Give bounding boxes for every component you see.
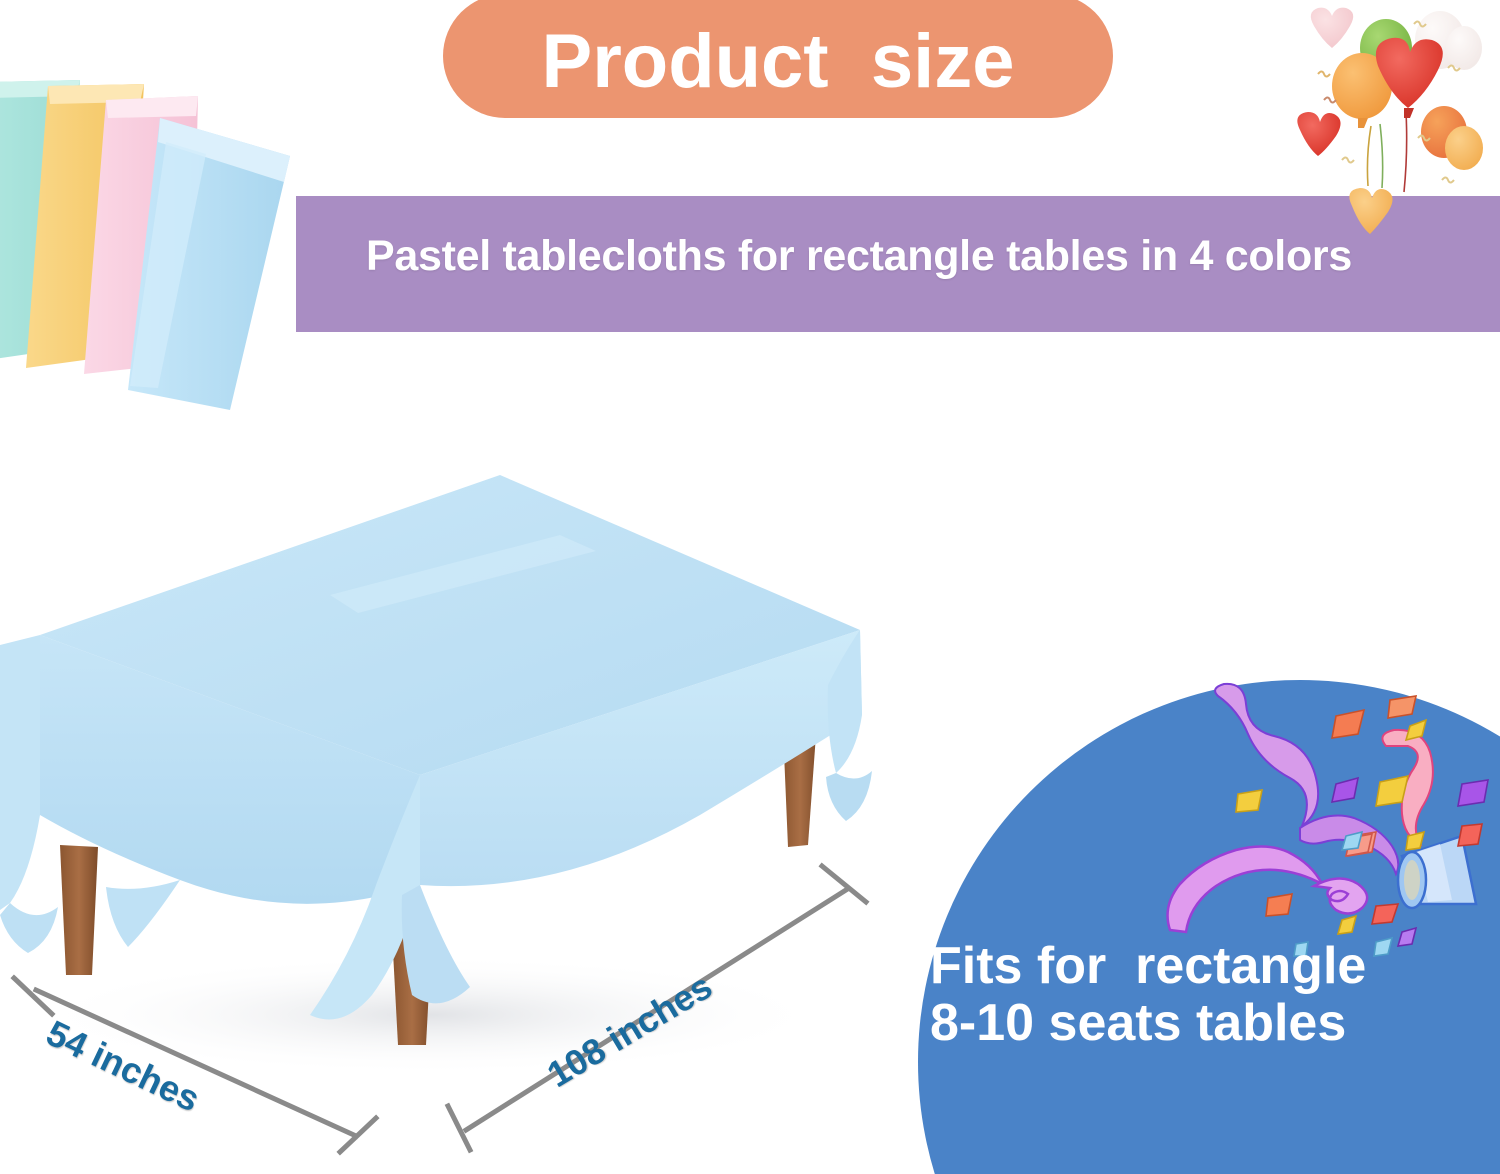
folded-tablecloths-stack — [0, 50, 360, 430]
streamer-magenta-lower — [1168, 846, 1322, 932]
balloon-strings — [1367, 112, 1406, 192]
fits-callout-line-1: Fits for rectangle — [930, 938, 1490, 995]
balloon-heart-red-small — [1297, 112, 1340, 156]
tablecloth-corner-right-point — [826, 771, 872, 821]
balloon-round-yellow-right — [1445, 126, 1483, 170]
party-popper-icon — [1140, 660, 1500, 960]
balloon-round-white-2 — [1446, 26, 1482, 70]
balloons-decoration — [1258, 0, 1500, 246]
page-title: Product size — [443, 6, 1113, 116]
dim-54-tick-end — [340, 1118, 376, 1152]
fits-callout-line-2: 8-10 seats tables — [930, 995, 1490, 1052]
streamer-purple-top — [1215, 684, 1318, 826]
balloon-heart-yellow — [1349, 188, 1392, 234]
streamer-loop — [1314, 878, 1367, 913]
dimension-annotations — [0, 830, 920, 1170]
balloon-heart-pale-pink — [1311, 8, 1353, 48]
infographic-canvas: 54 inches 108 inches — [0, 0, 1500, 1174]
dim-108-tick-end — [822, 866, 866, 902]
fits-callout-text: Fits for rectangle 8-10 seats tables — [930, 938, 1490, 1052]
